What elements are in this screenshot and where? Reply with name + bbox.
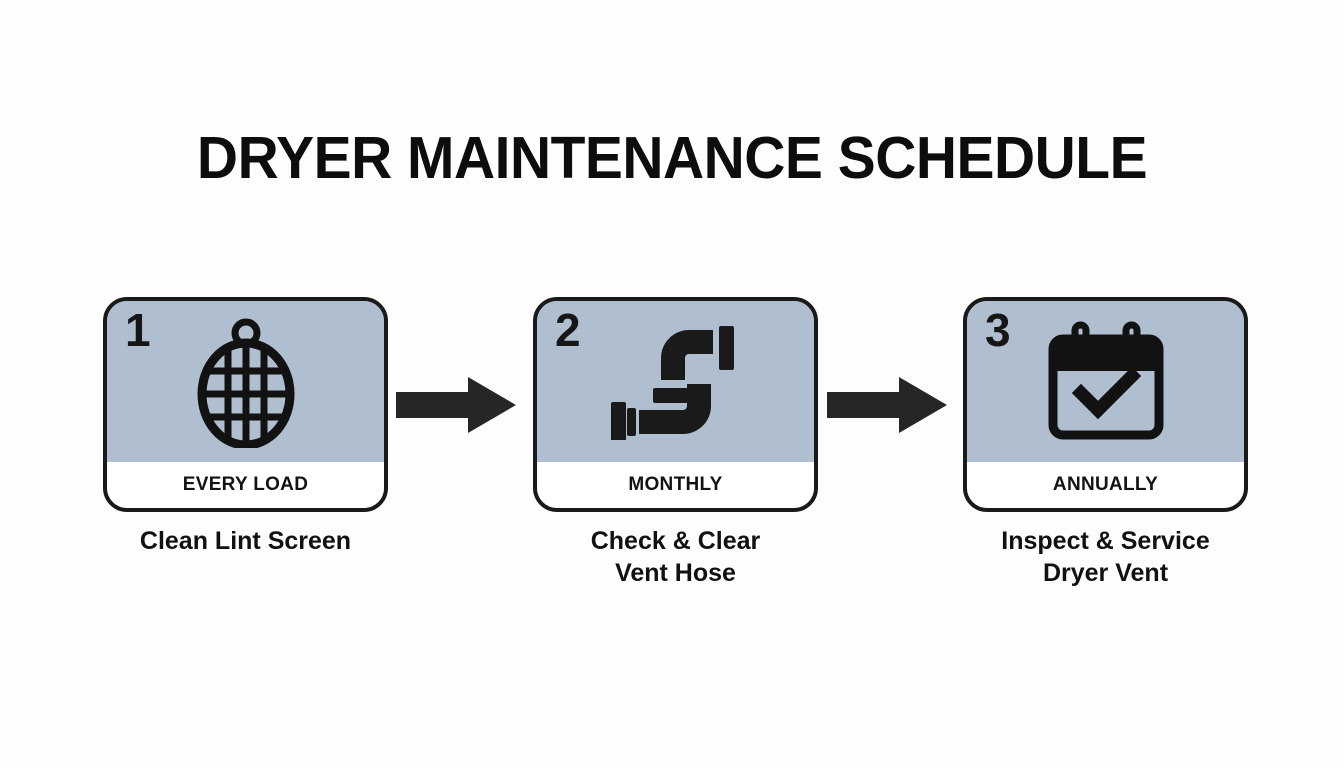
step-number-1: 1	[125, 307, 151, 353]
card-footer-3: ANNUALLY	[967, 462, 1244, 508]
card-frame-2: 2 MONTHLY	[533, 297, 818, 512]
step-caption-3: Inspect & Service Dryer Vent	[953, 525, 1258, 589]
infographic-canvas: DRYER MAINTENANCE SCHEDULE	[0, 0, 1344, 768]
frequency-label-3: ANNUALLY	[1053, 474, 1158, 496]
caption-line: Check & Clear	[523, 525, 828, 557]
step-card-2[interactable]: 2 MONTHLY Check & Clear Vent Hose	[533, 297, 818, 512]
steps-row: 1 EVERY LOAD Clean Lint Screen	[0, 297, 1344, 597]
frequency-label-2: MONTHLY	[628, 474, 722, 496]
step-card-3[interactable]: 3 ANNUALLY Inspect & Service Dryer Vent	[963, 297, 1248, 512]
arrow-step1-to-step2-icon	[394, 377, 518, 433]
step-number-3: 3	[985, 307, 1011, 353]
step-caption-1: Clean Lint Screen	[93, 525, 398, 557]
card-frame-1: 1 EVERY LOAD	[103, 297, 388, 512]
card-frame-3: 3 ANNUALLY	[963, 297, 1248, 512]
caption-line: Vent Hose	[523, 557, 828, 589]
step-card-1[interactable]: 1 EVERY LOAD Clean Lint Screen	[103, 297, 388, 512]
card-footer-1: EVERY LOAD	[107, 462, 384, 508]
frequency-label-1: EVERY LOAD	[183, 474, 308, 496]
caption-line: Inspect & Service	[953, 525, 1258, 557]
arrow-step2-to-step3-icon	[825, 377, 949, 433]
page-title: DRYER MAINTENANCE SCHEDULE	[24, 124, 1321, 192]
caption-line: Dryer Vent	[953, 557, 1258, 589]
step-number-2: 2	[555, 307, 581, 353]
card-footer-2: MONTHLY	[537, 462, 814, 508]
caption-line: Clean Lint Screen	[93, 525, 398, 557]
step-caption-2: Check & Clear Vent Hose	[523, 525, 828, 589]
